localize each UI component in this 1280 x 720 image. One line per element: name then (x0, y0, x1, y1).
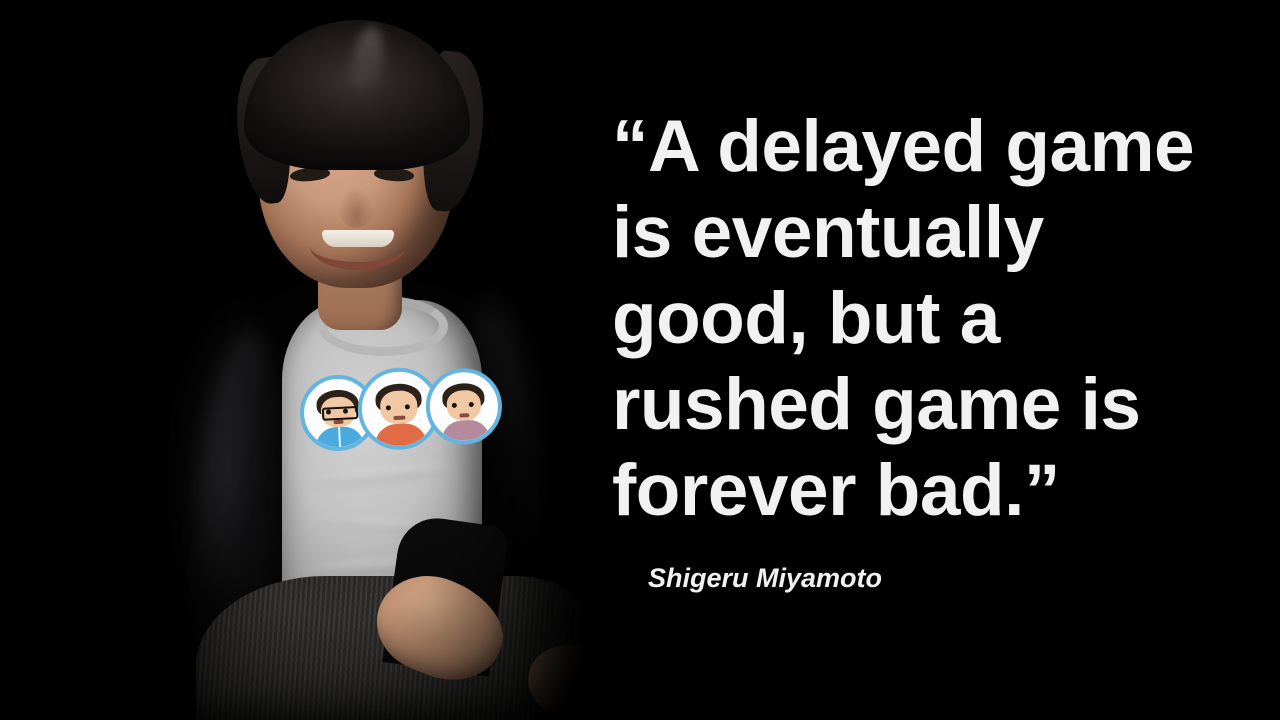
teeth (322, 230, 394, 247)
mii-mouth (459, 413, 470, 418)
mii-mouth (333, 419, 344, 424)
mii-eye (405, 404, 410, 409)
portrait-photo (0, 0, 600, 720)
mii-eye (326, 409, 331, 414)
mii-body (441, 419, 490, 442)
mii-body-stripe (338, 427, 341, 447)
quote-line-5: forever bad.” (612, 448, 1212, 534)
quote-line-1: “A delayed game (612, 104, 1212, 190)
quote-line-4: rushed game is (612, 362, 1212, 448)
mii-eye (451, 403, 456, 408)
mii-body (374, 422, 427, 447)
mii-body (315, 425, 364, 448)
quote-poster: “A delayed game is eventually good, but … (0, 0, 1280, 720)
quote-line-2: is eventually (612, 190, 1212, 276)
mii-eye (385, 405, 390, 410)
quote-line-3: good, but a (612, 276, 1212, 362)
quote-text: “A delayed game is eventually good, but … (612, 104, 1212, 534)
attribution-name: Shigeru Miyamoto (648, 563, 882, 594)
tshirt-mii-graphic (298, 367, 492, 453)
